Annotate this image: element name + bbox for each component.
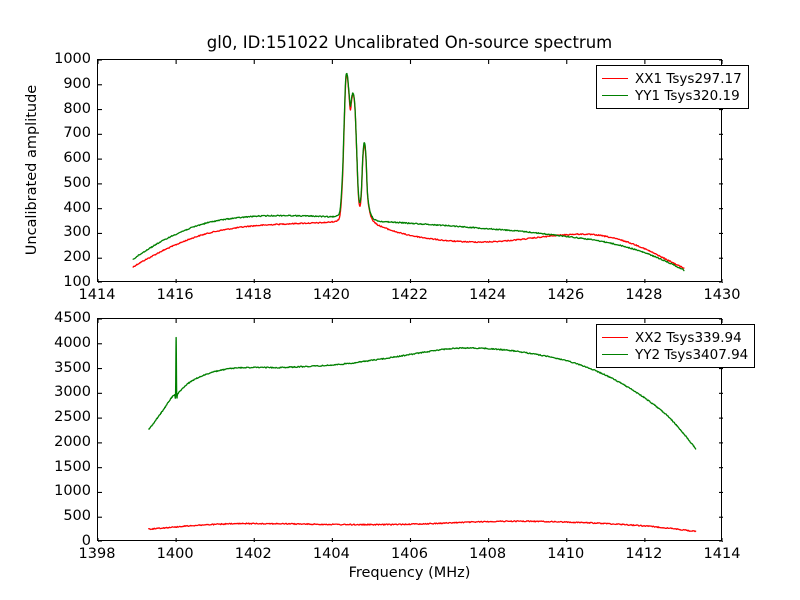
bottom-ytick-label: 4000 — [31, 335, 91, 351]
bottom-ytick-label: 2500 — [31, 409, 91, 425]
legend-item[interactable]: YY2 Tsys3407.94 — [602, 346, 748, 363]
legend-line-swatch-yy2 — [602, 354, 628, 355]
top-ytick-label: 200 — [31, 249, 91, 265]
bottom-xtick-label: 1404 — [313, 546, 350, 562]
series-line-xx2 — [149, 521, 696, 532]
bottom-xtick-label: 1414 — [704, 546, 741, 562]
bottom-xtick-label: 1410 — [547, 546, 584, 562]
bottom-ytick-label: 3500 — [31, 360, 91, 376]
top-xtick-label: 1416 — [157, 287, 194, 303]
bottom-xtick-label: 1406 — [391, 546, 428, 562]
legend-label-yy2: YY2 Tsys3407.94 — [635, 347, 748, 363]
top-xtick-label: 1414 — [79, 287, 116, 303]
top-ytick-label: 700 — [31, 125, 91, 141]
legend-item[interactable]: YY1 Tsys320.19 — [602, 87, 742, 104]
bottom-ytick-label: 500 — [31, 508, 91, 524]
bottom-ytick-label: 1000 — [31, 483, 91, 499]
bottom-panel-x-axis-label: Frequency (MHz) — [97, 565, 722, 581]
top-xtick-label: 1422 — [391, 287, 428, 303]
legend-label-xx1: XX1 Tsys297.17 — [635, 71, 742, 87]
top-xtick-label: 1426 — [547, 287, 584, 303]
legend-label-xx2: XX2 Tsys339.94 — [635, 330, 742, 346]
bottom-xtick-label: 1408 — [469, 546, 506, 562]
bottom-xtick-label: 1402 — [235, 546, 272, 562]
top-xtick-label: 1418 — [235, 287, 272, 303]
top-ytick-label: 300 — [31, 224, 91, 240]
top-panel-legend: XX1 Tsys297.17 YY1 Tsys320.19 — [596, 65, 749, 109]
top-ytick-label: 900 — [31, 76, 91, 92]
bottom-ytick-label: 1500 — [31, 459, 91, 475]
top-xtick-label: 1428 — [625, 287, 662, 303]
legend-line-swatch-xx1 — [602, 78, 628, 79]
top-ytick-label: 800 — [31, 101, 91, 117]
top-ytick-label: 1000 — [31, 51, 91, 67]
legend-item[interactable]: XX1 Tsys297.17 — [602, 70, 742, 87]
top-xtick-label: 1424 — [469, 287, 506, 303]
top-ytick-label: 500 — [31, 175, 91, 191]
page-title: gl0, ID:151022 Uncalibrated On-source sp… — [97, 33, 722, 52]
top-ytick-label: 600 — [31, 150, 91, 166]
bottom-ytick-label: 3000 — [31, 384, 91, 400]
bottom-ytick-label: 2000 — [31, 434, 91, 450]
top-xtick-label: 1420 — [313, 287, 350, 303]
spectrum-figure: gl0, ID:151022 Uncalibrated On-source sp… — [0, 0, 800, 600]
top-xtick-label: 1430 — [704, 287, 741, 303]
legend-item[interactable]: XX2 Tsys339.94 — [602, 329, 748, 346]
top-panel-y-axis-label: Uncalibrated amplitude — [24, 60, 40, 280]
bottom-xtick-label: 1400 — [157, 546, 194, 562]
top-ytick-label: 400 — [31, 200, 91, 216]
bottom-ytick-label: 4500 — [31, 310, 91, 326]
bottom-xtick-label: 1398 — [79, 546, 116, 562]
bottom-panel-legend: XX2 Tsys339.94 YY2 Tsys3407.94 — [596, 324, 755, 368]
legend-line-swatch-xx2 — [602, 337, 628, 338]
legend-label-yy1: YY1 Tsys320.19 — [635, 88, 740, 104]
legend-line-swatch-yy1 — [602, 95, 628, 96]
bottom-xtick-label: 1412 — [625, 546, 662, 562]
